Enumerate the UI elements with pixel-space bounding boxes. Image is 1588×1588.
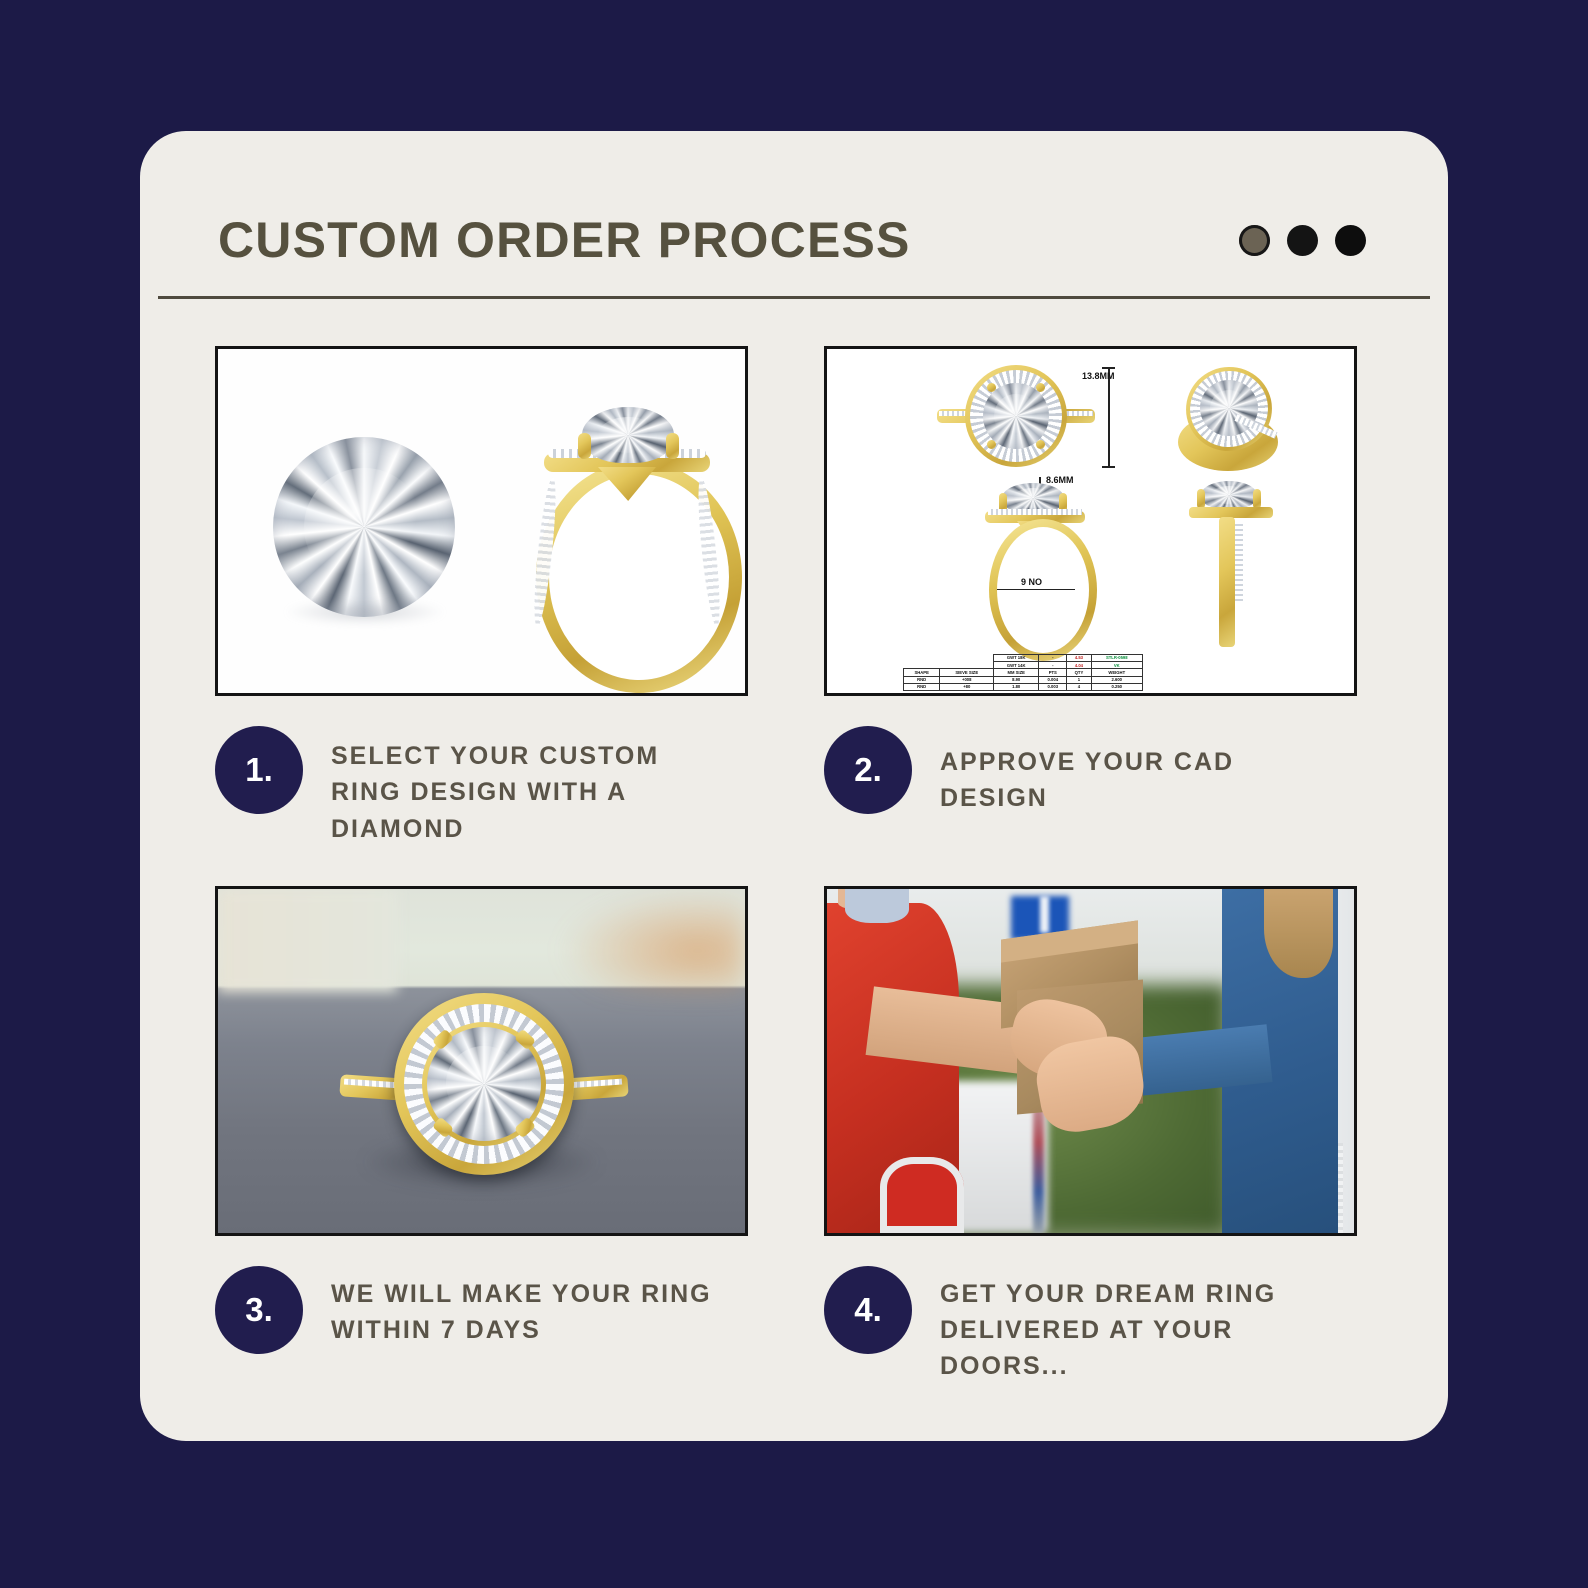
step-1-image[interactable] <box>215 346 748 696</box>
package-delivery-handoff-photo <box>827 889 1354 1233</box>
window-dot-olive-icon[interactable] <box>1239 225 1270 256</box>
step-3-caption: 3. WE WILL MAKE YOUR RING WITHIN 7 DAYS <box>215 1266 748 1386</box>
step-item-4: 4. GET YOUR DREAM RING DELIVERED AT YOUR… <box>824 886 1357 1386</box>
ring-profile-center-stone-icon <box>582 407 674 463</box>
cad-gwt-18k-label: GWT 18K <box>994 654 1039 661</box>
cad-col-pts: PTS <box>1039 669 1067 676</box>
step-2-caption: 2. APPROVE YOUR CAD DESIGN <box>824 726 1357 846</box>
cad-side-center-stone-icon <box>1201 481 1257 509</box>
cad-gwt-14k-label: GWT 14K <box>994 662 1039 669</box>
step-number-badge-4: 4. <box>824 1266 912 1354</box>
cad-blank-cell <box>904 654 940 661</box>
cad-cell: RND <box>904 676 940 683</box>
table-row: RND +008 8.90 0.004 1 2.600 <box>904 676 1143 683</box>
cad-dimension-tick-top <box>1102 367 1115 369</box>
finished-ring <box>394 993 574 1175</box>
cad-gwt-18k-dash: - <box>1039 654 1067 661</box>
photo-background-warm-blur <box>555 889 745 992</box>
cad-initials: VK <box>1091 662 1142 669</box>
step-3-image[interactable] <box>215 886 748 1236</box>
cad-ringsize-line <box>997 589 1075 590</box>
step-label-2: APPROVE YOUR CAD DESIGN <box>940 726 1335 817</box>
courier-face-mask <box>845 889 908 923</box>
cad-cell: 1.80 <box>994 683 1039 690</box>
step-label-4: GET YOUR DREAM RING DELIVERED AT YOUR DO… <box>940 1266 1335 1385</box>
cad-side-shank <box>1219 517 1235 647</box>
header-divider <box>158 296 1430 299</box>
cad-prong-bl <box>987 440 996 449</box>
step-number-badge-2: 2. <box>824 726 912 814</box>
cad-col-sieve-size: SIEVE SIZE <box>940 669 994 676</box>
cad-blank-cell <box>940 654 994 661</box>
step-item-3: 3. WE WILL MAKE YOUR RING WITHIN 7 DAYS <box>215 886 748 1386</box>
cad-view-top-face <box>965 365 1067 467</box>
cad-col-qty: QTY <box>1067 669 1091 676</box>
cad-dimension-label-13-8mm: 13.8MM <box>1082 371 1115 381</box>
cad-cell: 0.003 <box>1039 683 1067 690</box>
cad-prong-br <box>1036 440 1045 449</box>
cad-front-halo-pave <box>988 509 1082 515</box>
cad-cell: RND <box>904 683 940 690</box>
table-row: RND +80 1.80 0.003 4 0.250 <box>904 683 1143 690</box>
finished-gold-halo-ring-photo <box>218 889 745 1233</box>
cad-col-mm-size: MM SIZE <box>994 669 1039 676</box>
cad-gwt-14k-dash: - <box>1039 662 1067 669</box>
cad-cell: 0.004 <box>1039 676 1067 683</box>
cad-style-code: STLR-0598 <box>1091 654 1142 661</box>
window-controls[interactable] <box>1239 225 1366 256</box>
cad-cell: 4 <box>1067 683 1091 690</box>
card-header: CUSTOM ORDER PROCESS <box>218 185 1370 295</box>
cad-side-shank-pave <box>1235 521 1243 603</box>
cad-table-header-row: SHAPE SIEVE SIZE MM SIZE PTS QTY WEIGHT <box>904 669 1143 676</box>
step-label-3: WE WILL MAKE YOUR RING WITHIN 7 DAYS <box>331 1266 726 1349</box>
step-2-image[interactable]: 13.8MM 8.6MM <box>824 346 1357 696</box>
cad-table-gwt-18k-row: GWT 18K - 4.53 STLR-0598 <box>904 654 1143 661</box>
cad-dimension-tick-bottom <box>1102 466 1115 468</box>
cad-prong-tl <box>987 383 996 392</box>
loose-diamond-shadow <box>284 599 446 625</box>
step-number-badge-3: 3. <box>215 1266 303 1354</box>
red-hand-truck <box>880 1157 964 1233</box>
cad-blank-cell <box>940 662 994 669</box>
cad-spec-table: GWT 18K - 4.53 STLR-0598 GWT 14K - 4.04 <box>903 654 1143 691</box>
custom-order-process-card: CUSTOM ORDER PROCESS <box>140 131 1448 1441</box>
step-1-caption: 1. SELECT YOUR CUSTOM RING DESIGN WITH A… <box>215 726 748 847</box>
cad-view-side-profile <box>1187 481 1277 651</box>
cad-side-prong-left <box>1197 489 1205 509</box>
cad-col-shape: SHAPE <box>904 669 940 676</box>
cad-gwt-14k-value: 4.04 <box>1067 662 1091 669</box>
step-4-caption: 4. GET YOUR DREAM RING DELIVERED AT YOUR… <box>824 1266 1357 1386</box>
loose-diamond-icon <box>273 437 455 617</box>
cad-cell: +008 <box>940 676 994 683</box>
cad-prong-tr <box>1036 383 1045 392</box>
loose-diamond-and-gold-halo-ring-photo <box>218 349 745 693</box>
ring-profile-prong-right <box>666 433 679 459</box>
step-number-badge-1: 1. <box>215 726 303 814</box>
cad-view-angled <box>1172 365 1282 477</box>
cad-side-prong-right <box>1253 489 1261 509</box>
cad-view-front-elevation: 9 NO <box>975 483 1095 649</box>
step-item-2: 13.8MM 8.6MM <box>824 346 1357 847</box>
photo-sign-stripe <box>1040 896 1048 934</box>
cad-cell: 2.600 <box>1091 676 1142 683</box>
ring-profile-prong-left <box>578 433 591 459</box>
cad-technical-drawing: 13.8MM 8.6MM <box>827 349 1354 693</box>
window-dot-dark-1-icon[interactable] <box>1287 225 1318 256</box>
cad-cell: 8.90 <box>994 676 1039 683</box>
page-title: CUSTOM ORDER PROCESS <box>218 211 911 269</box>
cad-gwt-18k-value: 4.53 <box>1067 654 1091 661</box>
cad-cell: +80 <box>940 683 994 690</box>
window-dot-dark-2-icon[interactable] <box>1335 225 1366 256</box>
cad-dimension-line-vertical <box>1108 367 1110 467</box>
photo-background-left-blur <box>218 889 397 992</box>
cad-col-weight: WEIGHT <box>1091 669 1142 676</box>
step-item-1: 1. SELECT YOUR CUSTOM RING DESIGN WITH A… <box>215 346 748 847</box>
cad-cell: 0.250 <box>1091 683 1142 690</box>
cad-blank-cell <box>904 662 940 669</box>
step-label-1: SELECT YOUR CUSTOM RING DESIGN WITH A DI… <box>331 726 726 847</box>
steps-grid: 1. SELECT YOUR CUSTOM RING DESIGN WITH A… <box>215 346 1370 1386</box>
step-4-image[interactable] <box>824 886 1357 1236</box>
poster-canvas: CUSTOM ORDER PROCESS <box>0 0 1588 1588</box>
cad-ring-size-label: 9 NO <box>1021 577 1042 587</box>
cad-table-gwt-14k-row: GWT 14K - 4.04 VK <box>904 662 1143 669</box>
cad-cell: 1 <box>1067 676 1091 683</box>
